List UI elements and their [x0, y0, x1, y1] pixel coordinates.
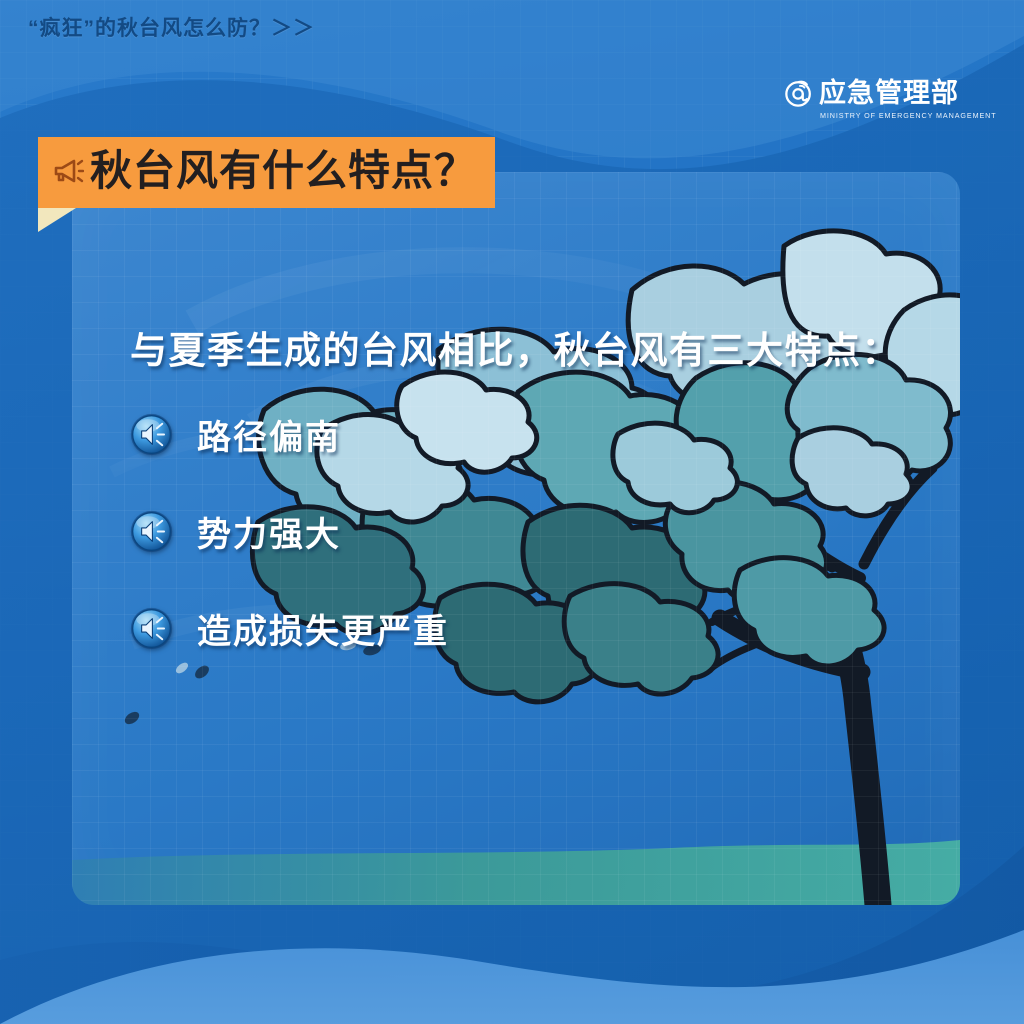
logo-cn-name: 应急管理部	[819, 80, 959, 107]
at-sign-icon	[784, 78, 814, 108]
speaker-icon	[130, 510, 173, 553]
list-item[interactable]: 势力强大	[130, 507, 449, 555]
banner-fold	[38, 208, 76, 232]
banner-title: 秋台风有什么特点？	[90, 150, 477, 192]
list-item-label: 势力强大	[197, 507, 341, 556]
speaker-icon	[130, 607, 173, 650]
card-heading: 与夏季生成的台风相比，秋台风有三大特点：	[130, 320, 900, 374]
ministry-logo: 应急管理部 MINISTRY OF EMERGENCY MANAGEMENT	[784, 78, 952, 132]
list-item-label: 造成损失更严重	[197, 604, 449, 653]
section-banner: 秋台风有什么特点？	[38, 137, 495, 208]
content-card: 与夏季生成的台风相比，秋台风有三大特点：	[72, 172, 960, 905]
list-item[interactable]: 造成损失更严重	[130, 604, 449, 652]
list-item[interactable]: 路径偏南	[130, 410, 449, 458]
list-item-label: 路径偏南	[197, 410, 341, 459]
logo-en-name: MINISTRY OF EMERGENCY MANAGEMENT	[820, 111, 952, 120]
poster-root: “疯狂”的秋台风怎么防？＞＞ 应急管理部 MINISTRY OF EMERGEN…	[0, 0, 1024, 1024]
megaphone-icon	[52, 157, 84, 187]
speaker-icon	[130, 413, 173, 456]
header-link[interactable]: “疯狂”的秋台风怎么防？＞＞	[28, 12, 315, 42]
feature-list: 路径偏南 势力强大	[130, 410, 449, 652]
